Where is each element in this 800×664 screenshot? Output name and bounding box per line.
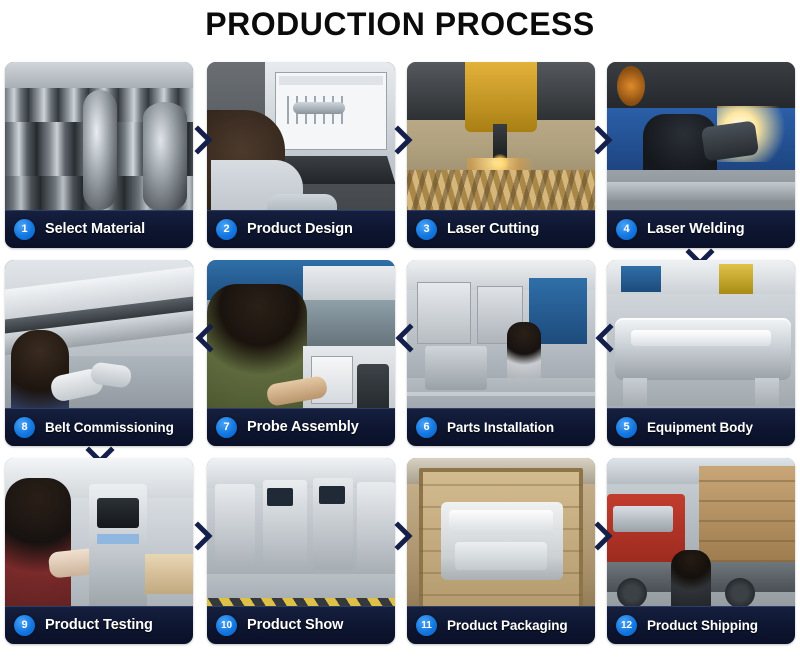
process-step-card-1[interactable]: 1 Select Material bbox=[5, 62, 193, 248]
page-title: PRODUCTION PROCESS bbox=[0, 2, 800, 46]
step-label-text: Laser Welding bbox=[647, 221, 745, 237]
process-step-card-7[interactable]: 7 Probe Assembly bbox=[207, 260, 395, 446]
step-number-badge: 7 bbox=[216, 417, 237, 438]
process-step-card-9[interactable]: 9 Product Testing bbox=[5, 458, 193, 644]
process-step-card-2[interactable]: 2 Product Design bbox=[207, 62, 395, 248]
step-label-text: Select Material bbox=[45, 221, 145, 237]
process-step-card-4[interactable]: 4 Laser Welding bbox=[607, 62, 795, 248]
chevron-left-icon bbox=[193, 323, 215, 353]
chevron-right-icon bbox=[193, 521, 215, 551]
chevron-right-icon bbox=[393, 521, 415, 551]
step-label-text: Product Design bbox=[247, 221, 353, 237]
process-row-1: 1 Select Material bbox=[5, 62, 795, 248]
process-step-label-5: 5 Equipment Body bbox=[607, 408, 795, 446]
chevron-right-icon bbox=[193, 125, 215, 155]
process-step-card-11[interactable]: 11 Product Packaging bbox=[407, 458, 595, 644]
step-number-badge: 11 bbox=[416, 615, 437, 636]
step-label-text: Equipment Body bbox=[647, 420, 753, 435]
step-number-badge: 8 bbox=[14, 417, 35, 438]
process-step-label-8: 8 Belt Commissioning bbox=[5, 408, 193, 446]
process-step-label-2: 2 Product Design bbox=[207, 210, 395, 248]
step-number-badge: 10 bbox=[216, 615, 237, 636]
step-label-text: Product Packaging bbox=[447, 618, 568, 633]
production-process-infographic: PRODUCTION PROCESS 1 Select Materia bbox=[0, 0, 800, 664]
step-number-badge: 4 bbox=[616, 219, 637, 240]
process-step-card-5[interactable]: 5 Equipment Body bbox=[607, 260, 795, 446]
chevron-right-icon bbox=[393, 125, 415, 155]
step-label-text: Laser Cutting bbox=[447, 221, 539, 237]
process-step-card-3[interactable]: 3 Laser Cutting bbox=[407, 62, 595, 248]
process-step-label-11: 11 Product Packaging bbox=[407, 606, 595, 644]
process-step-label-12: 12 Product Shipping bbox=[607, 606, 795, 644]
chevron-left-icon bbox=[393, 323, 415, 353]
step-label-text: Probe Assembly bbox=[247, 419, 359, 435]
chevron-right-icon bbox=[593, 521, 615, 551]
step-number-badge: 3 bbox=[416, 219, 437, 240]
process-row-2: 8 Belt Commissioning 7 bbox=[5, 260, 795, 446]
step-number-badge: 2 bbox=[216, 219, 237, 240]
process-step-label-9: 9 Product Testing bbox=[5, 606, 193, 644]
chevron-left-icon bbox=[593, 323, 615, 353]
process-step-card-12[interactable]: 12 Product Shipping bbox=[607, 458, 795, 644]
step-number-badge: 9 bbox=[14, 615, 35, 636]
process-step-card-8[interactable]: 8 Belt Commissioning bbox=[5, 260, 193, 446]
step-label-text: Parts Installation bbox=[447, 420, 554, 435]
process-row-3: 9 Product Testing bbox=[5, 458, 795, 644]
process-step-label-10: 10 Product Show bbox=[207, 606, 395, 644]
process-step-card-6[interactable]: 6 Parts Installation bbox=[407, 260, 595, 446]
process-step-label-3: 3 Laser Cutting bbox=[407, 210, 595, 248]
process-step-label-4: 4 Laser Welding bbox=[607, 210, 795, 248]
process-step-label-7: 7 Probe Assembly bbox=[207, 408, 395, 446]
step-number-badge: 1 bbox=[14, 219, 35, 240]
step-number-badge: 6 bbox=[416, 417, 437, 438]
step-label-text: Product Show bbox=[247, 617, 343, 633]
step-label-text: Product Shipping bbox=[647, 618, 758, 633]
process-step-label-1: 1 Select Material bbox=[5, 210, 193, 248]
step-number-badge: 12 bbox=[616, 615, 637, 636]
process-grid: 1 Select Material bbox=[5, 62, 795, 650]
chevron-right-icon bbox=[593, 125, 615, 155]
step-label-text: Belt Commissioning bbox=[45, 420, 174, 435]
process-step-label-6: 6 Parts Installation bbox=[407, 408, 595, 446]
process-step-card-10[interactable]: 10 Product Show bbox=[207, 458, 395, 644]
step-label-text: Product Testing bbox=[45, 617, 153, 633]
step-number-badge: 5 bbox=[616, 417, 637, 438]
